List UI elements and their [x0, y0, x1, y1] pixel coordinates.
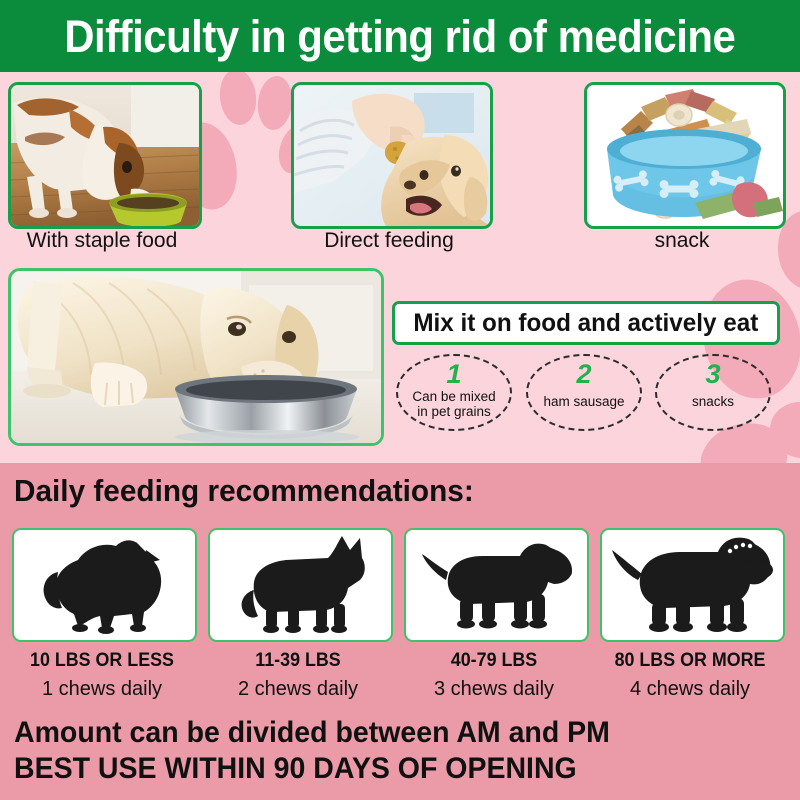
- mix-option-2-number: 2: [576, 361, 591, 388]
- feeding-card-3: [404, 528, 589, 642]
- treat-bowl-photo: [587, 85, 783, 226]
- corgi-silhouette-icon: [210, 530, 391, 640]
- feeding-section-title: Daily feeding recommendations:: [14, 473, 474, 509]
- feeding-weight-4: 80 LBS OR MORE: [596, 650, 784, 672]
- method-caption-3: snack: [584, 229, 780, 253]
- footer-line-2: BEST USE WITHIN 90 DAYS OF OPENING: [14, 752, 577, 786]
- feeding-weight-3: 40-79 LBS: [400, 650, 588, 672]
- method-photo-direct-feeding: [291, 82, 493, 229]
- mix-option-3-number: 3: [705, 361, 720, 388]
- feeding-dose-1: 1 chews daily: [2, 678, 202, 701]
- infographic-page: Difficulty in getting rid of medicine: [0, 0, 800, 800]
- mix-banner: Mix it on food and actively eat: [392, 301, 780, 345]
- methods-section: With staple food: [0, 72, 800, 463]
- feeding-weight-1: 10 LBS OR LESS: [8, 650, 196, 672]
- method-caption-2: Direct feeding: [291, 229, 487, 253]
- mix-option-1: 1 Can be mixed in pet grains: [396, 354, 512, 431]
- method-caption-1: With staple food: [8, 229, 196, 253]
- feeding-weight-2: 11-39 LBS: [204, 650, 392, 672]
- feeding-card-2: [208, 528, 393, 642]
- page-title: Difficulty in getting rid of medicine: [64, 14, 735, 59]
- beagle-eating-photo: [11, 85, 199, 226]
- mix-banner-text: Mix it on food and actively eat: [414, 309, 759, 338]
- header-banner: Difficulty in getting rid of medicine: [0, 0, 800, 72]
- hand-feeding-treat-photo: [294, 85, 490, 226]
- mix-option-2: 2 ham sausage: [526, 354, 642, 431]
- mix-option-1-number: 1: [446, 361, 461, 388]
- mix-option-2-label: ham sausage: [543, 394, 624, 409]
- mix-option-3-label: snacks: [692, 394, 734, 409]
- large-labrador-silhouette-icon: [602, 530, 783, 640]
- mix-option-1-label: Can be mixed in pet grains: [412, 389, 495, 419]
- mix-option-3: 3 snacks: [655, 354, 771, 431]
- method-photo-snack: [584, 82, 786, 229]
- feeding-card-4: [600, 528, 785, 642]
- feature-photo: [8, 268, 384, 446]
- feeding-dose-3: 3 chews daily: [394, 678, 594, 701]
- feeding-card-1: [12, 528, 197, 642]
- medium-dog-silhouette-icon: [406, 530, 587, 640]
- feeding-dose-2: 2 chews daily: [198, 678, 398, 701]
- small-fluffy-dog-silhouette-icon: [14, 530, 195, 640]
- golden-retriever-eating-photo: [11, 271, 381, 443]
- method-photo-with-staple-food: [8, 82, 202, 229]
- footer-line-1: Amount can be divided between AM and PM: [14, 716, 610, 750]
- feeding-dose-4: 4 chews daily: [590, 678, 790, 701]
